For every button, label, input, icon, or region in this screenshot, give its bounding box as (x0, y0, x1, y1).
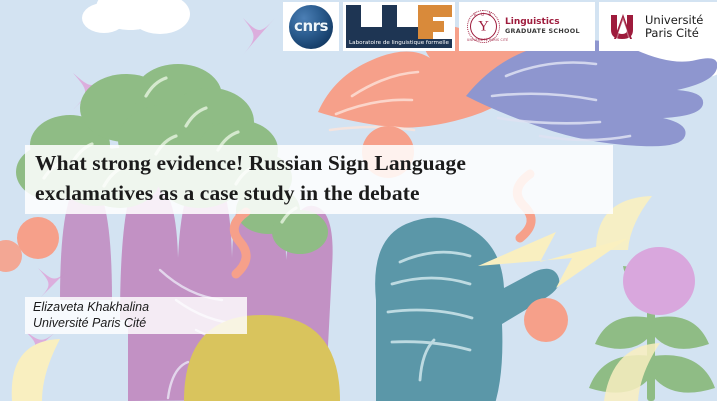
author-affiliation: Université Paris Cité (33, 315, 247, 331)
cnrs-wordmark: cnrs (294, 19, 328, 34)
upc-wordmark: Université Paris Cité (645, 14, 703, 40)
linguistics-line1: Linguistics (505, 17, 580, 27)
llf-caption: Laboratoire de linguistique formelle (346, 39, 452, 48)
logo-llf: Laboratoire de linguistique formelle (343, 2, 455, 51)
eur-seal-arc-text: UNIVERSITÉ PARIS CITÉ (467, 38, 500, 42)
linguistics-line2: GRADUATE SCHOOL (505, 27, 580, 37)
page-title: What strong evidence! Russian Sign Langu… (35, 148, 610, 208)
logo-strip: cnrs Laboratoire de linguistique formell… (283, 2, 717, 51)
title-line-1: What strong evidence! Russian Sign Langu… (35, 151, 466, 175)
logo-cnrs: cnrs (283, 2, 339, 51)
author-band: Elizaveta Khakhalina Université Paris Ci… (25, 297, 247, 334)
upc-line2: Paris Cité (645, 27, 703, 40)
llf-letterforms (346, 5, 452, 39)
circle-coral-bottom (524, 298, 568, 342)
llf-mark-icon: Laboratoire de linguistique formelle (343, 2, 455, 51)
title-line-2: exclamatives as a case study in the deba… (35, 181, 420, 205)
title-slide: cnrs Laboratoire de linguistique formell… (0, 0, 717, 401)
circle-coral-left (17, 217, 59, 259)
upc-mark-icon (608, 12, 638, 42)
cnrs-badge-icon: cnrs (289, 5, 333, 49)
title-band: What strong evidence! Russian Sign Langu… (25, 145, 613, 214)
author-name: Elizaveta Khakhalina (33, 299, 247, 315)
logo-eur-linguistics: E U R Υ UNIVERSITÉ PARIS CITÉ Linguistic… (459, 2, 595, 51)
upc-line1: Université (645, 14, 703, 27)
eur-seal-icon: E U R Υ UNIVERSITÉ PARIS CITÉ (467, 10, 500, 43)
eur-seal-top-text: E U R (467, 12, 500, 17)
linguistics-wordmark: Linguistics GRADUATE SCHOOL (505, 17, 580, 37)
logo-universite-paris-cite: Université Paris Cité (599, 2, 717, 51)
